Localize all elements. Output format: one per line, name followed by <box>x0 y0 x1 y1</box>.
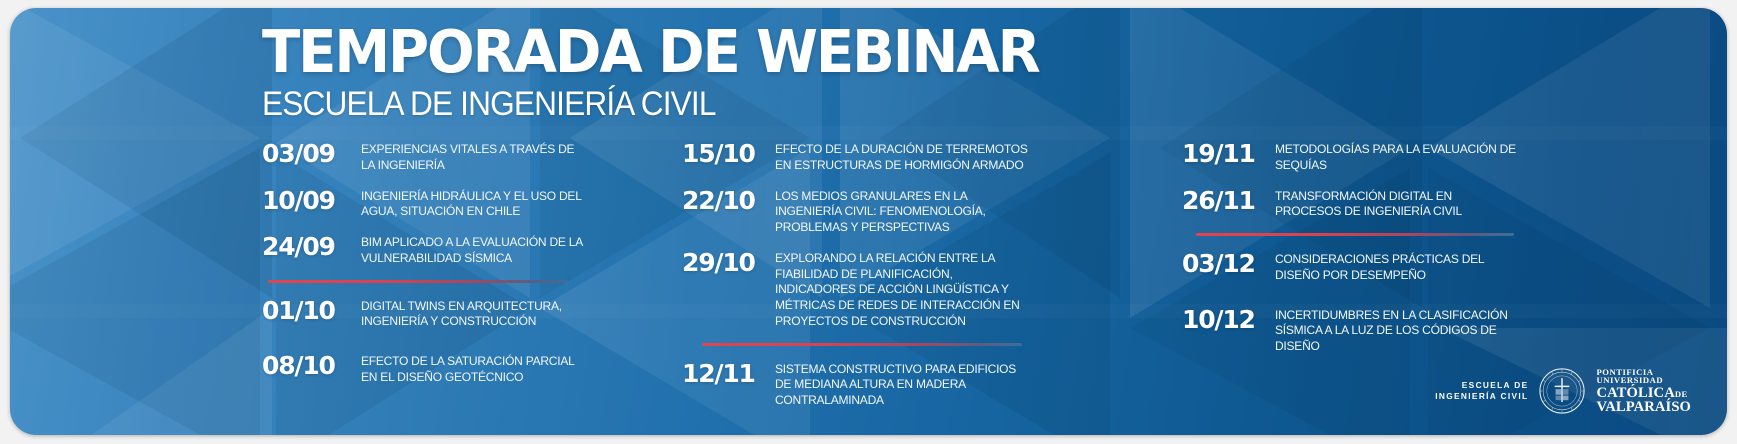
section-separator <box>268 280 568 283</box>
school-name-line1: ESCUELA DE <box>1435 380 1528 392</box>
webinar-entry[interactable]: 22/10 LOS MEDIOS GRANULARES EN LA INGENI… <box>682 187 1042 236</box>
webinar-date: 01/10 <box>262 297 348 323</box>
webinar-season-banner: TEMPORADA DE WEBINAR ESCUELA DE INGENIER… <box>0 0 1737 444</box>
page-subtitle: ESCUELA DE INGENIERÍA CIVIL <box>262 85 1022 124</box>
webinar-title: TRANSFORMACIÓN DIGITAL EN PROCESOS DE IN… <box>1275 187 1519 221</box>
page-title: TEMPORADA DE WEBINAR <box>262 22 1039 83</box>
schedule-columns: 03/09 EXPERIENCIAS VITALES A TRAVÉS DE L… <box>10 140 1727 390</box>
schedule-column-3: 19/11 METODOLOGÍAS PARA LA EVALUACIÓN DE… <box>1182 140 1527 368</box>
webinar-date: 12/11 <box>682 360 762 386</box>
banner-card: TEMPORADA DE WEBINAR ESCUELA DE INGENIER… <box>10 8 1727 435</box>
webinar-entry[interactable]: 08/10 EFECTO DE LA SATURACIÓN PARCIAL EN… <box>262 352 592 386</box>
webinar-entry[interactable]: 24/09 BIM APLICADO A LA EVALUACIÓN DE LA… <box>262 233 592 267</box>
webinar-title: LOS MEDIOS GRANULARES EN LA INGENIERÍA C… <box>775 187 1034 236</box>
logo-lockup: ESCUELA DE INGENIERÍA CIVIL <box>1435 368 1691 415</box>
schedule-column-1: 03/09 EXPERIENCIAS VITALES A TRAVÉS DE L… <box>262 140 592 399</box>
university-name-line2: UNIVERSIDAD <box>1596 376 1691 385</box>
webinar-title: EXPLORANDO LA RELACIÓN ENTRE LA FIABILID… <box>775 249 1034 330</box>
webinar-title: INCERTIDUMBRES EN LA CLASIFICACIÓN SÍSMI… <box>1275 306 1519 355</box>
webinar-title: EXPERIENCIAS VITALES A TRAVÉS DE LA INGE… <box>361 140 585 174</box>
webinar-entry[interactable]: 12/11 SISTEMA CONSTRUCTIVO PARA EDIFICIO… <box>682 360 1042 409</box>
webinar-date: 10/09 <box>262 187 348 213</box>
webinar-date: 03/12 <box>1182 250 1262 276</box>
webinar-entry[interactable]: 15/10 EFECTO DE LA DURACIÓN DE TERREMOTO… <box>682 140 1042 174</box>
schedule-column-2: 15/10 EFECTO DE LA DURACIÓN DE TERREMOTO… <box>682 140 1042 422</box>
section-separator <box>702 343 1022 346</box>
webinar-date: 29/10 <box>682 249 762 275</box>
webinar-entry[interactable]: 26/11 TRANSFORMACIÓN DIGITAL EN PROCESOS… <box>1182 187 1527 221</box>
webinar-date: 22/10 <box>682 187 762 213</box>
webinar-entry[interactable]: 03/12 CONSIDERACIONES PRÁCTICAS DEL DISE… <box>1182 250 1527 284</box>
title-block: TEMPORADA DE WEBINAR ESCUELA DE INGENIER… <box>262 22 1080 124</box>
webinar-title: SISTEMA CONSTRUCTIVO PARA EDIFICIOS DE M… <box>775 360 1034 409</box>
webinar-entry[interactable]: 19/11 METODOLOGÍAS PARA LA EVALUACIÓN DE… <box>1182 140 1527 174</box>
university-crest-icon <box>1539 368 1585 414</box>
webinar-title: BIM APLICADO A LA EVALUACIÓN DE LA VULNE… <box>361 233 585 267</box>
webinar-date: 19/11 <box>1182 140 1262 166</box>
webinar-title: CONSIDERACIONES PRÁCTICAS DEL DISEÑO POR… <box>1275 250 1519 284</box>
webinar-date: 15/10 <box>682 140 762 166</box>
webinar-title: EFECTO DE LA DURACIÓN DE TERREMOTOS EN E… <box>775 140 1034 174</box>
school-name: ESCUELA DE INGENIERÍA CIVIL <box>1435 380 1528 404</box>
school-name-line2: INGENIERÍA CIVIL <box>1435 391 1528 403</box>
webinar-title: EFECTO DE LA SATURACIÓN PARCIAL EN EL DI… <box>361 352 585 386</box>
webinar-entry[interactable]: 10/12 INCERTIDUMBRES EN LA CLASIFICACIÓN… <box>1182 306 1527 355</box>
webinar-date: 10/12 <box>1182 306 1262 332</box>
webinar-entry[interactable]: 01/10 DIGITAL TWINS EN ARQUITECTURA, ING… <box>262 297 592 331</box>
webinar-entry[interactable]: 29/10 EXPLORANDO LA RELACIÓN ENTRE LA FI… <box>682 249 1042 330</box>
webinar-date: 08/10 <box>262 352 348 378</box>
webinar-title: DIGITAL TWINS EN ARQUITECTURA, INGENIERÍ… <box>361 297 585 331</box>
webinar-title: INGENIERÍA HIDRÁULICA Y EL USO DEL AGUA,… <box>361 187 585 221</box>
section-separator <box>1196 233 1514 236</box>
webinar-date: 26/11 <box>1182 187 1262 213</box>
university-name-line4: VALPARAÍSO <box>1596 400 1691 415</box>
university-name: PONTIFICIA UNIVERSIDAD CATÓLICADE VALPAR… <box>1596 368 1691 415</box>
webinar-title: METODOLOGÍAS PARA LA EVALUACIÓN DE SEQUÍ… <box>1275 140 1519 174</box>
university-name-de: DE <box>1675 389 1688 399</box>
webinar-date: 24/09 <box>262 233 348 259</box>
webinar-entry[interactable]: 03/09 EXPERIENCIAS VITALES A TRAVÉS DE L… <box>262 140 592 174</box>
webinar-entry[interactable]: 10/09 INGENIERÍA HIDRÁULICA Y EL USO DEL… <box>262 187 592 221</box>
webinar-date: 03/09 <box>262 140 348 166</box>
